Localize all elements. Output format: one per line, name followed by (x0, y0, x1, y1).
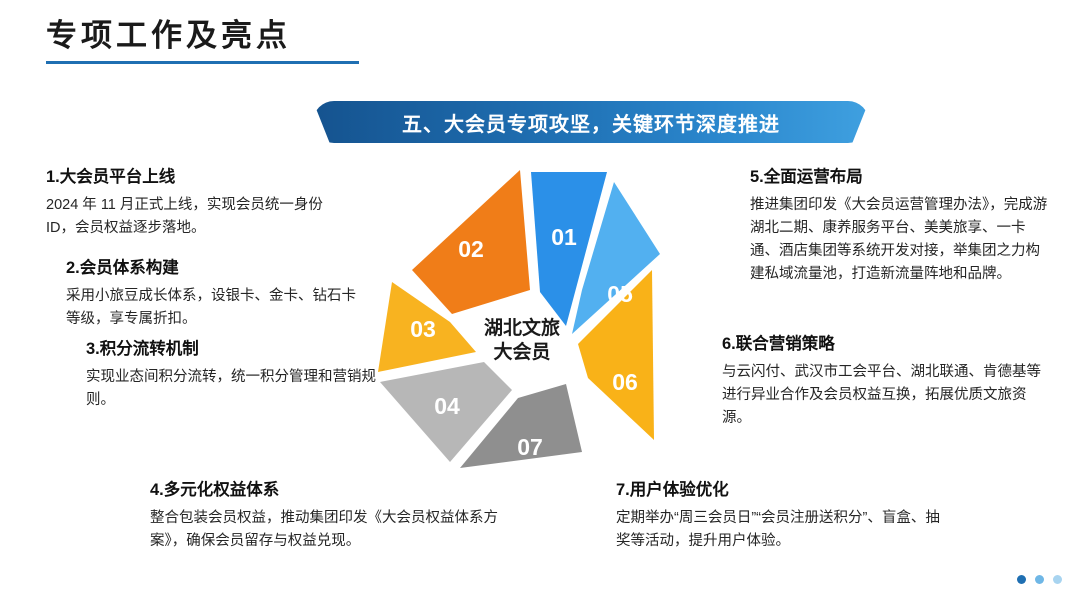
item-block-7: 7.用户体验优化 定期举办“周三会员日”“会员注册送积分”、盲盒、抽奖等活动，提… (616, 478, 946, 553)
item-4-body: 整合包装会员权益，推动集团印发《大会员权益体系方案》，确保会员留存与权益兑现。 (150, 507, 510, 553)
pager-dots[interactable] (1017, 575, 1062, 584)
item-6-body: 与云闪付、武汉市工会平台、湖北联通、肯德基等进行异业合作及会员权益互换，拓展优质… (722, 361, 1042, 430)
page-header: 专项工作及亮点 (46, 16, 359, 64)
wheel-label-06: 06 (612, 369, 638, 395)
section-banner: 五、大会员专项攻坚，关键环节深度推进 (313, 101, 869, 143)
page-title: 专项工作及亮点 (46, 16, 359, 56)
pager-dot-2[interactable] (1035, 575, 1044, 584)
wheel-label-04: 04 (434, 393, 460, 419)
item-3-heading: 3.积分流转机制 (86, 337, 376, 361)
item-block-5: 5.全面运营布局 推进集团印发《大会员运营管理办法》，完成游湖北二期、康养服务平… (750, 165, 1050, 286)
pinwheel-diagram: 02 01 05 03 06 04 07 湖北文旅 大会员 (352, 162, 732, 507)
item-2-body: 采用小旅豆成长体系，设银卡、金卡、钻石卡等级，享专属折扣。 (66, 285, 356, 331)
item-5-body: 推进集团印发《大会员运营管理办法》，完成游湖北二期、康养服务平台、美美旅享、一卡… (750, 194, 1050, 286)
item-block-1: 1.大会员平台上线 2024 年 11 月正式上线，实现会员统一身份 ID，会员… (46, 165, 346, 240)
wheel-label-02: 02 (458, 236, 484, 262)
wheel-center-line2: 大会员 (493, 340, 550, 363)
item-block-3: 3.积分流转机制 实现业态间积分流转，统一积分管理和营销规则。 (86, 337, 376, 412)
item-5-heading: 5.全面运营布局 (750, 165, 1050, 189)
item-2-heading: 2.会员体系构建 (66, 256, 356, 280)
item-6-heading: 6.联合营销策略 (722, 332, 1042, 356)
wheel-label-03: 03 (410, 316, 436, 342)
wheel-label-01: 01 (551, 224, 577, 250)
pager-dot-1[interactable] (1017, 575, 1026, 584)
item-4-heading: 4.多元化权益体系 (150, 478, 510, 502)
wheel-label-05: 05 (607, 281, 633, 307)
title-underline (46, 61, 359, 64)
item-7-heading: 7.用户体验优化 (616, 478, 946, 502)
item-block-2: 2.会员体系构建 采用小旅豆成长体系，设银卡、金卡、钻石卡等级，享专属折扣。 (66, 256, 356, 331)
wheel-label-07: 07 (517, 434, 543, 460)
wheel-center-line1: 湖北文旅 (484, 316, 560, 339)
item-block-4: 4.多元化权益体系 整合包装会员权益，推动集团印发《大会员权益体系方案》，确保会… (150, 478, 510, 553)
item-3-body: 实现业态间积分流转，统一积分管理和营销规则。 (86, 366, 376, 412)
item-block-6: 6.联合营销策略 与云闪付、武汉市工会平台、湖北联通、肯德基等进行异业合作及会员… (722, 332, 1042, 430)
pager-dot-3[interactable] (1053, 575, 1062, 584)
item-7-body: 定期举办“周三会员日”“会员注册送积分”、盲盒、抽奖等活动，提升用户体验。 (616, 507, 946, 553)
item-1-heading: 1.大会员平台上线 (46, 165, 346, 189)
item-1-body: 2024 年 11 月正式上线，实现会员统一身份 ID，会员权益逐步落地。 (46, 194, 346, 240)
banner-title: 五、大会员专项攻坚，关键环节深度推进 (313, 101, 869, 143)
